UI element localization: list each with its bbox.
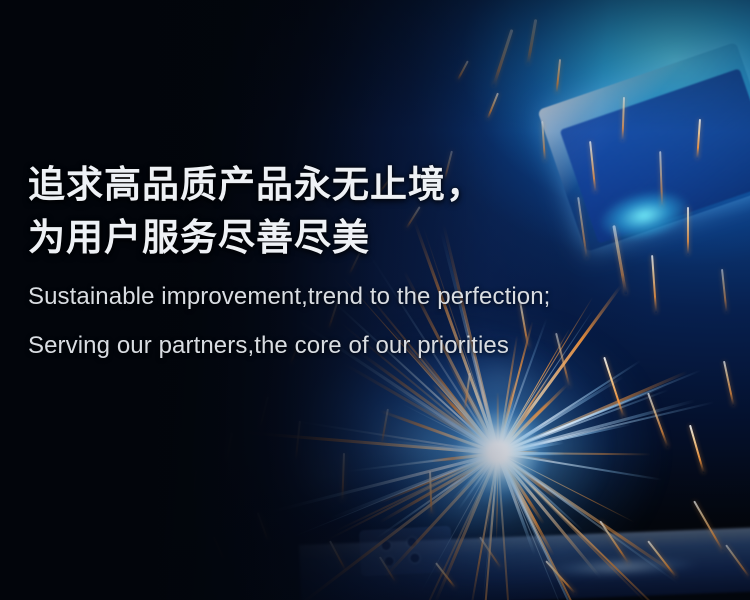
- hero-banner: 追求高品质产品永无止境， 为用户服务尽善尽美 Sustainable impro…: [0, 0, 750, 600]
- subtitle-line-1: Sustainable improvement,trend to the per…: [28, 280, 550, 313]
- subtitle-line-2: Serving our partners,the core of our pri…: [28, 329, 550, 362]
- banner-copy: 追求高品质产品永无止境， 为用户服务尽善尽美 Sustainable impro…: [28, 158, 550, 362]
- headline-line-2: 为用户服务尽善尽美: [28, 211, 550, 264]
- headline-line-1: 追求高品质产品永无止境，: [28, 158, 550, 211]
